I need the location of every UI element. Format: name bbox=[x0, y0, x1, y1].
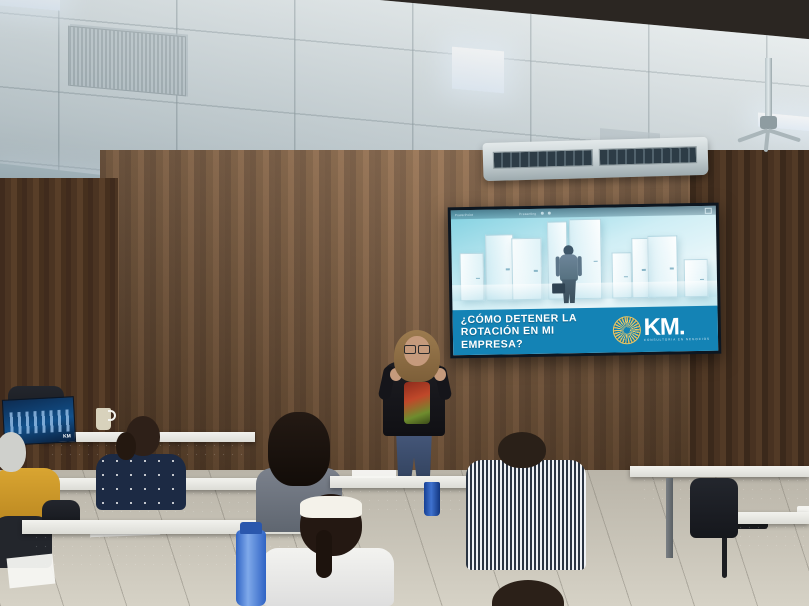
toolbar-status-label: Presenting bbox=[519, 211, 536, 215]
km-logo: KM. CONSULTORIA EN NEGOCIOS bbox=[612, 314, 710, 344]
attendee-head bbox=[0, 432, 26, 472]
toolbar-app-label: PowerPoint bbox=[455, 212, 473, 216]
figure-arm-left bbox=[556, 256, 560, 276]
blue-tumbler bbox=[424, 482, 440, 516]
air-conditioner-unit bbox=[483, 137, 709, 181]
km-tagline: CONSULTORIA EN NEGOCIOS bbox=[644, 336, 710, 341]
slide-headline-line2: ROTACIÓN EN MI EMPRESA? bbox=[461, 324, 613, 352]
figure-torso bbox=[560, 254, 578, 281]
attendee-torso bbox=[96, 454, 186, 510]
mic-icon[interactable] bbox=[540, 212, 543, 215]
km-mandala-icon bbox=[612, 316, 640, 344]
slide-doors-illustration bbox=[451, 215, 717, 302]
businessman-figure bbox=[555, 245, 582, 303]
paper-sheet bbox=[352, 470, 396, 478]
braid bbox=[316, 530, 332, 578]
slide-content: PowerPoint Presenting bbox=[451, 206, 718, 356]
white-headband bbox=[300, 496, 362, 518]
briefcase-icon bbox=[552, 283, 565, 293]
ceiling-fan-motor bbox=[760, 116, 777, 129]
bottle-cap bbox=[240, 522, 262, 534]
ceiling-fan-downrod bbox=[765, 58, 772, 120]
presenter-graphic-tee bbox=[404, 382, 430, 424]
projection-screen[interactable]: PowerPoint Presenting bbox=[448, 203, 722, 359]
slide-floor-line bbox=[452, 281, 717, 302]
bag-right bbox=[690, 478, 738, 538]
glasses-icon bbox=[404, 345, 430, 352]
classroom-presentation-photo: PowerPoint Presenting bbox=[0, 0, 809, 606]
camera-icon[interactable] bbox=[547, 212, 550, 215]
ac-vent-right bbox=[599, 146, 697, 166]
cup-on-desk bbox=[96, 408, 111, 430]
attendee-hair bbox=[268, 412, 330, 486]
attendee-torso bbox=[466, 460, 586, 570]
ac-vent-left bbox=[493, 149, 593, 169]
slide-banner: ¿CÓMO DETENER LA ROTACIÓN EN MI EMPRESA?… bbox=[453, 306, 719, 356]
attendee-hair-bun bbox=[116, 432, 136, 460]
slide-headline: ¿CÓMO DETENER LA ROTACIÓN EN MI EMPRESA? bbox=[461, 311, 613, 351]
desk-front-right bbox=[736, 523, 809, 553]
km-wordmark: KM. bbox=[643, 316, 710, 337]
paper-sheet bbox=[7, 554, 56, 589]
laptop-slide-image bbox=[10, 409, 71, 434]
water-bottle bbox=[236, 530, 266, 606]
laptop-km-logo: KM bbox=[63, 433, 71, 439]
minimize-icon[interactable] bbox=[705, 207, 712, 213]
desk-leg bbox=[666, 478, 673, 558]
figure-arm-right bbox=[578, 256, 582, 276]
attendee-head bbox=[498, 432, 546, 468]
